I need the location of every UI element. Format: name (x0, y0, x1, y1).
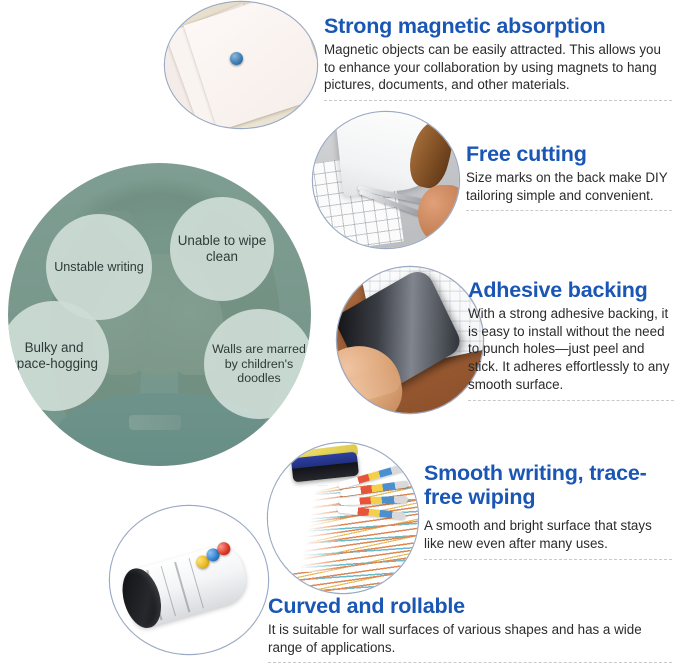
feature-magnetic-body: Magnetic objects can be easily attracted… (324, 41, 672, 94)
pain-bubble-label: Walls are marred by children's doodles (208, 342, 310, 386)
infographic-canvas: Strong magnetic absorption Magnetic obje… (0, 0, 679, 669)
pain-bubble-unable-to-wipe-clean: Unable to wipe clean (170, 197, 274, 301)
feature-magnetic-heading: Strong magnetic absorption (324, 14, 672, 38)
feature-adhesive-body: With a strong adhesive backing, it is ea… (468, 305, 674, 393)
feature-cutting-heading: Free cutting (466, 142, 672, 166)
pain-bubble-label: Unable to wipe clean (174, 233, 270, 265)
feature-cutting-divider (466, 210, 672, 211)
feature-smooth: Smooth writing, trace-free wiping A smoo… (424, 461, 672, 560)
feature-curved-body: It is suitable for wall surfaces of vari… (268, 621, 672, 656)
adhesive-backing-photo (337, 267, 483, 413)
feature-magnetic-divider (324, 100, 672, 101)
pain-bubble-walls-marred: Walls are marred by children's doodles (204, 309, 311, 419)
magnetic-sheets-photo (165, 2, 317, 128)
feature-cutting: Free cutting Size marks on the back make… (466, 142, 672, 211)
feature-adhesive: Adhesive backing With a strong adhesive … (468, 278, 674, 401)
free-cutting-photo (313, 112, 459, 248)
pain-bubble-label: Bulky and space-hogging (8, 340, 105, 372)
feature-adhesive-divider (468, 400, 674, 401)
feature-smooth-body: A smooth and bright surface that stays l… (424, 517, 672, 552)
feature-magnetic: Strong magnetic absorption Magnetic obje… (324, 14, 672, 101)
feature-smooth-heading: Smooth writing, trace-free wiping (424, 461, 672, 509)
feature-curved-heading: Curved and rollable (268, 594, 672, 618)
pain-point-circle: Unstable writing Unable to wipe clean Bu… (8, 163, 311, 466)
pain-bubble-label: Unstable writing (54, 260, 144, 275)
feature-smooth-divider (424, 559, 672, 560)
feature-adhesive-heading: Adhesive backing (468, 278, 674, 302)
feature-curved: Curved and rollable It is suitable for w… (268, 594, 672, 663)
feature-cutting-body: Size marks on the back make DIY tailorin… (466, 169, 672, 204)
curved-rollable-photo (110, 506, 268, 654)
feature-curved-divider (268, 662, 672, 663)
